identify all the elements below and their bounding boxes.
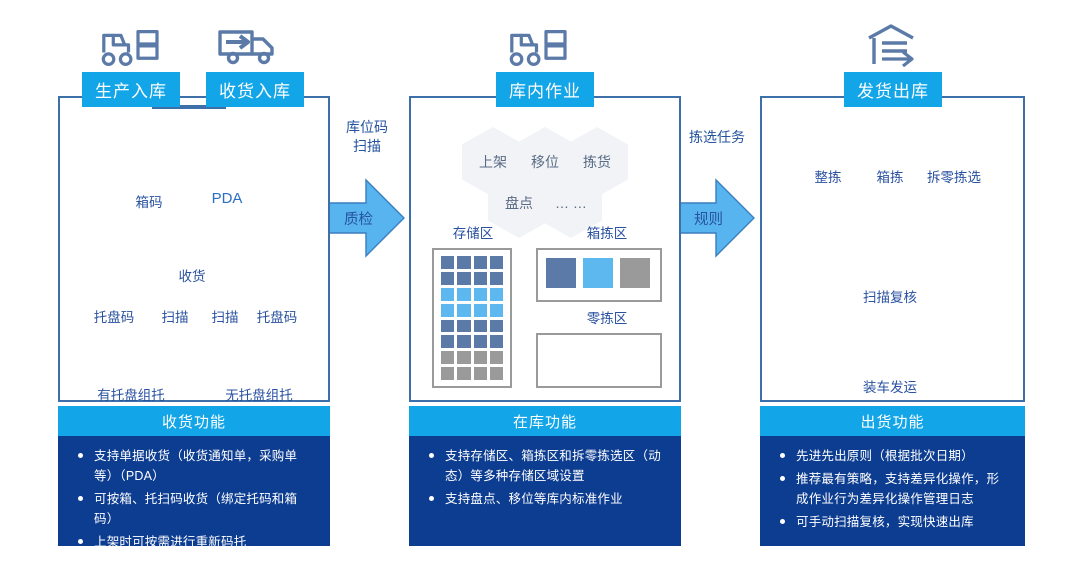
label-pallet-code-left: 托盘码	[82, 306, 146, 326]
chip-receiving-inbound[interactable]: 收货入库	[206, 72, 304, 107]
label-with-pallet: 有托盘组托	[75, 384, 187, 404]
hex-move-label: 移位	[531, 152, 559, 172]
inbound-footer-title-label: 收货功能	[162, 411, 226, 432]
label-load-and-ship: 装车发运	[844, 376, 936, 396]
storage-cell	[490, 367, 503, 380]
label-storage-zone: 存储区	[432, 222, 514, 242]
storage-cell	[474, 256, 487, 269]
warehouse-out-icon	[869, 26, 913, 66]
connector-1-arrow-label-wrap[interactable]: 质检	[327, 203, 404, 233]
storage-cell	[457, 288, 470, 301]
case-swatch-2	[583, 258, 613, 288]
inbound-feature-list: 支持单据收货（收货通知单，采购单等）（PDA） 可按箱、托扫码收货（绑定托码和箱…	[72, 446, 316, 552]
connector-2-arrow-label: 规则	[694, 208, 723, 229]
storage-cell	[457, 351, 470, 364]
list-item: 先进先出原则（根据批次日期）	[774, 446, 1011, 466]
storage-cell	[457, 272, 470, 285]
outbound-footer-title: 出货功能	[760, 406, 1025, 436]
chip-production-inbound[interactable]: 生产入库	[82, 72, 180, 107]
label-piece-pick-zone: 零拣区	[566, 307, 648, 327]
storage-cell	[441, 335, 454, 348]
connector-1-caption: 库位码 扫描	[331, 118, 403, 156]
outbound-footer-body: 先进先出原则（根据批次日期） 推荐最有策略，支持差异化操作，形成作业行为差异化操…	[760, 436, 1025, 546]
storage-cell	[490, 304, 503, 317]
storage-cell	[474, 304, 487, 317]
storage-cell	[490, 272, 503, 285]
case-swatch-1	[546, 258, 576, 288]
storage-cell	[441, 320, 454, 333]
inbound-footer-title: 收货功能	[58, 406, 330, 436]
delivery-truck-icon	[220, 32, 272, 63]
list-item: 支持盘点、移位等库内标准作业	[423, 489, 667, 509]
storage-cell	[490, 256, 503, 269]
list-item: 可手动扫描复核，实现快速出库	[774, 512, 1011, 532]
hex-more-label: … …	[555, 195, 587, 211]
outbound-panel	[760, 96, 1025, 402]
connector-1-caption-line1: 库位码	[331, 118, 403, 137]
storage-cell	[457, 304, 470, 317]
chip-production-inbound-label: 生产入库	[95, 77, 167, 102]
storage-cell	[441, 304, 454, 317]
chip-shipping-outbound-label: 发货出库	[857, 77, 929, 102]
chip-receiving-inbound-label: 收货入库	[219, 77, 291, 102]
chip-instore-operation[interactable]: 库内作业	[496, 72, 594, 107]
label-pda: PDA	[199, 190, 255, 207]
list-item: 可按箱、托扫码收货（绑定托码和箱码）	[72, 489, 316, 529]
storage-cell	[474, 320, 487, 333]
chip-shipping-outbound[interactable]: 发货出库	[844, 72, 942, 107]
forklift-icon-mid	[511, 32, 565, 65]
hex-stocktake-label: 盘点	[505, 193, 533, 213]
storage-cell	[457, 367, 470, 380]
list-item: 支持存储区、箱拣区和拆零拣选区（动态）等多种存储区域设置	[423, 446, 667, 486]
label-pallet-code-right: 托盘码	[245, 306, 309, 326]
instore-footer-title-label: 在库功能	[513, 411, 577, 432]
hex-putaway-label: 上架	[479, 152, 507, 172]
storage-cell	[441, 272, 454, 285]
storage-cell	[474, 288, 487, 301]
label-without-pallet: 无托盘组托	[203, 384, 315, 404]
label-receiving: 收货	[163, 265, 221, 285]
storage-cell	[441, 351, 454, 364]
label-scan-verify: 扫描复核	[844, 286, 936, 306]
chip-instore-operation-label: 库内作业	[509, 77, 581, 102]
instore-feature-list: 支持存储区、箱拣区和拆零拣选区（动态）等多种存储区域设置 支持盘点、移位等库内标…	[423, 446, 667, 509]
connector-1-caption-line2: 扫描	[331, 137, 403, 156]
storage-cell	[474, 351, 487, 364]
label-piece-pick: 拆零拣选	[910, 166, 998, 186]
list-item: 推荐最有策略，支持差异化操作，形成作业行为差异化操作管理日志	[774, 469, 1011, 509]
connector-2-caption: 拣选任务	[681, 128, 753, 147]
label-full-pallet-pick: 整拣	[796, 166, 860, 186]
inbound-footer-body: 支持单据收货（收货通知单，采购单等）（PDA） 可按箱、托扫码收货（绑定托码和箱…	[58, 436, 330, 546]
storage-cell	[490, 320, 503, 333]
storage-cell	[490, 335, 503, 348]
storage-cell	[474, 367, 487, 380]
connector-2-caption-line1: 拣选任务	[681, 128, 753, 147]
label-carton-code: 箱码	[119, 191, 179, 211]
storage-cell	[441, 367, 454, 380]
storage-cell	[457, 335, 470, 348]
instore-footer-title: 在库功能	[409, 406, 681, 436]
storage-cell	[490, 351, 503, 364]
diagram-canvas: 生产入库 收货入库 箱码 PDA 收货 托盘码 扫描 扫描 托盘码 有托盘组托 …	[0, 0, 1080, 570]
case-swatch-3	[620, 258, 650, 288]
instore-footer-body: 支持存储区、箱拣区和拆零拣选区（动态）等多种存储区域设置 支持盘点、移位等库内标…	[409, 436, 681, 546]
label-case-pick-zone: 箱拣区	[566, 222, 648, 242]
storage-cell	[474, 272, 487, 285]
piece-pick-zone-frame	[536, 333, 662, 388]
forklift-icon	[103, 32, 157, 65]
storage-cell	[441, 288, 454, 301]
list-item: 支持单据收货（收货通知单，采购单等）（PDA）	[72, 446, 316, 486]
label-scan-left: 扫描	[150, 306, 200, 326]
storage-cell	[490, 288, 503, 301]
label-scan-right: 扫描	[200, 306, 250, 326]
list-item: 上架时可按需进行重新码托	[72, 532, 316, 552]
storage-cell	[457, 256, 470, 269]
connector-1-arrow-label: 质检	[344, 208, 373, 229]
connector-2-arrow-label-wrap[interactable]: 规则	[677, 203, 754, 233]
outbound-feature-list: 先进先出原则（根据批次日期） 推荐最有策略，支持差异化操作，形成作业行为差异化操…	[774, 446, 1011, 532]
inbound-panel	[58, 96, 330, 402]
hex-picking-label: 拣货	[583, 152, 611, 172]
outbound-footer-title-label: 出货功能	[860, 411, 924, 432]
storage-cell	[474, 335, 487, 348]
storage-zone-grid	[441, 256, 503, 380]
storage-cell	[441, 256, 454, 269]
storage-cell	[457, 320, 470, 333]
